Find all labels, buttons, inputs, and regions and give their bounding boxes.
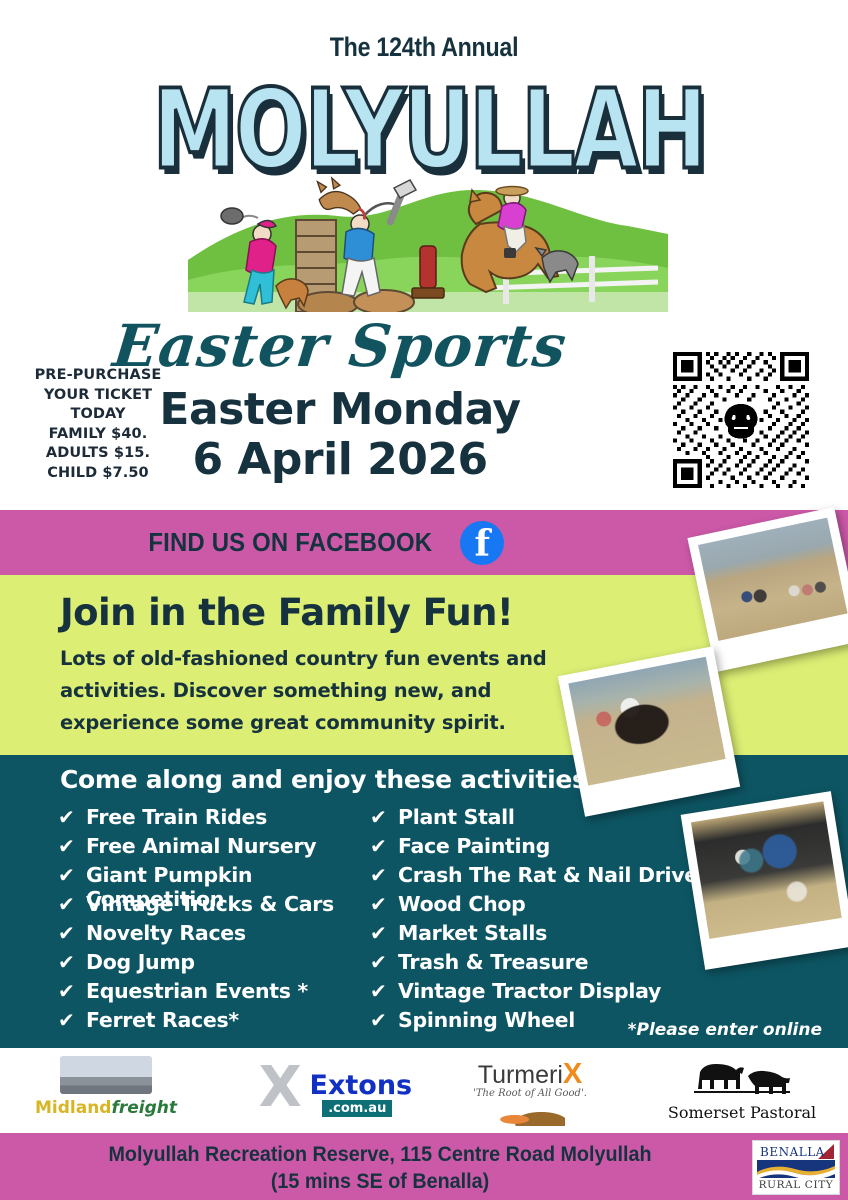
ticket-price-block: PRE-PURCHASE YOUR TICKET TODAY FAMILY $4… bbox=[12, 366, 184, 483]
sponsor-label: Midlandfreight bbox=[0, 1098, 212, 1118]
venue-address: Molyullah Recreation Reserve, 115 Centre… bbox=[23, 1141, 737, 1195]
activity-label: Market Stalls bbox=[398, 921, 547, 945]
sponsor-label: Extons bbox=[310, 1072, 413, 1099]
benalla-rural-city-logo: BENALLA RURAL CITY bbox=[752, 1140, 840, 1195]
activity-label: Equestrian Events * bbox=[86, 979, 308, 1003]
ticket-price-family: FAMILY $40. bbox=[12, 425, 184, 445]
activity-label: Free Animal Nursery bbox=[86, 834, 316, 858]
event-logo: MOLYULLAH bbox=[158, 66, 698, 316]
sponsor-turmerix: TurmeriX 'The Root of All Good'. bbox=[424, 1048, 636, 1133]
check-icon: ✔ bbox=[58, 981, 76, 1001]
family-fun-body: Lots of old-fashioned country fun events… bbox=[60, 643, 560, 739]
list-item: ✔Ferret Races* bbox=[58, 1008, 388, 1037]
activity-label: Trash & Treasure bbox=[398, 950, 588, 974]
check-icon: ✔ bbox=[370, 807, 388, 827]
activity-label: Free Train Rides bbox=[86, 805, 267, 829]
sponsor-label-text: Turmeri bbox=[478, 1061, 563, 1089]
list-item: ✔Free Train Rides bbox=[58, 805, 388, 834]
check-icon: ✔ bbox=[58, 1010, 76, 1030]
sponsor-tagline: 'The Root of All Good'. bbox=[424, 1088, 636, 1099]
sponsor-strip: Midlandfreight X Extons .com.au TurmeriX… bbox=[0, 1048, 848, 1133]
sponsor-extons: X Extons .com.au bbox=[212, 1048, 424, 1133]
activity-label: Wood Chop bbox=[398, 892, 526, 916]
hero-section: The 124th Annual bbox=[0, 0, 848, 510]
ticket-price-adults: ADULTS $15. bbox=[12, 444, 184, 464]
ticket-price-child: CHILD $7.50 bbox=[12, 464, 184, 484]
facebook-label: FIND US ON FACEBOOK bbox=[148, 527, 432, 558]
check-icon: ✔ bbox=[58, 836, 76, 856]
list-item: ✔Dog Jump bbox=[58, 950, 388, 979]
benalla-wave-icon bbox=[757, 1160, 835, 1178]
activity-label: Vintage Trucks & Cars bbox=[86, 892, 334, 916]
sponsor-label-bold: Midland bbox=[35, 1098, 111, 1118]
sponsor-somerset-pastoral: Somerset Pastoral bbox=[636, 1048, 848, 1133]
activity-label: Ferret Races* bbox=[86, 1008, 239, 1032]
activities-title: Come along and enjoy these activities: bbox=[60, 765, 596, 794]
check-icon: ✔ bbox=[58, 923, 76, 943]
family-fun-title: Join in the Family Fun! bbox=[60, 591, 513, 634]
sponsor-label: TurmeriX bbox=[424, 1058, 636, 1091]
venue-address-line1: Molyullah Recreation Reserve, 115 Centre… bbox=[23, 1141, 737, 1168]
list-item: ✔Equestrian Events * bbox=[58, 979, 388, 1008]
annual-label: The 124th Annual bbox=[59, 32, 788, 63]
list-item: ✔Crash The Rat & Nail Drive bbox=[370, 863, 700, 892]
sponsor-domain: .com.au bbox=[322, 1100, 392, 1117]
ticket-line-3: TODAY bbox=[12, 405, 184, 425]
activity-label: Crash The Rat & Nail Drive bbox=[398, 863, 698, 887]
venue-address-line2: (15 mins SE of Benalla) bbox=[23, 1168, 737, 1195]
check-icon: ✔ bbox=[370, 865, 388, 885]
activity-label: Face Painting bbox=[398, 834, 550, 858]
activity-label: Novelty Races bbox=[86, 921, 246, 945]
list-item: ✔Plant Stall bbox=[370, 805, 700, 834]
ticket-line-1: PRE-PURCHASE bbox=[12, 366, 184, 386]
activity-label: Plant Stall bbox=[398, 805, 515, 829]
photo-dog-jump bbox=[681, 791, 848, 970]
enter-online-note: *Please enter online bbox=[628, 1020, 822, 1040]
list-item: ✔Face Painting bbox=[370, 834, 700, 863]
benalla-logo-bottom: RURAL CITY bbox=[753, 1179, 839, 1191]
check-icon: ✔ bbox=[58, 807, 76, 827]
activity-label: Vintage Tractor Display bbox=[398, 979, 661, 1003]
check-icon: ✔ bbox=[370, 923, 388, 943]
benalla-logo-top: BENALLA bbox=[757, 1145, 835, 1159]
sponsor-label: Somerset Pastoral bbox=[636, 1103, 848, 1122]
list-item: ✔Novelty Races bbox=[58, 921, 388, 950]
list-item: ✔Trash & Treasure bbox=[370, 950, 700, 979]
activities-column-right: ✔Plant Stall ✔Face Painting ✔Crash The R… bbox=[370, 805, 700, 1037]
check-icon: ✔ bbox=[370, 981, 388, 1001]
truck-icon bbox=[60, 1056, 152, 1094]
lion-icon bbox=[725, 404, 758, 439]
list-item: ✔Free Animal Nursery bbox=[58, 834, 388, 863]
facebook-icon[interactable] bbox=[460, 521, 504, 565]
sponsor-label-mark: X bbox=[563, 1058, 582, 1090]
activities-column-left: ✔Free Train Rides ✔Free Animal Nursery ✔… bbox=[58, 805, 388, 1037]
ticket-line-2: YOUR TICKET bbox=[12, 386, 184, 406]
sponsor-midland-freight: Midlandfreight bbox=[0, 1048, 212, 1133]
photo-equestrian bbox=[558, 646, 740, 817]
event-name: MOLYULLAH bbox=[153, 66, 704, 194]
photo-image bbox=[698, 518, 847, 641]
activity-label: Dog Jump bbox=[86, 950, 195, 974]
qr-code[interactable] bbox=[673, 352, 809, 488]
poster: The 124th Annual bbox=[0, 0, 848, 1200]
sponsor-label-italic: freight bbox=[111, 1098, 177, 1118]
check-icon: ✔ bbox=[58, 952, 76, 972]
footer-address-band: Molyullah Recreation Reserve, 115 Centre… bbox=[0, 1133, 848, 1200]
list-item: ✔Wood Chop bbox=[370, 892, 700, 921]
list-item: ✔Vintage Tractor Display bbox=[370, 979, 700, 1008]
check-icon: ✔ bbox=[370, 1010, 388, 1030]
check-icon: ✔ bbox=[370, 894, 388, 914]
turmeric-icon bbox=[495, 1104, 565, 1126]
check-icon: ✔ bbox=[370, 952, 388, 972]
check-icon: ✔ bbox=[58, 894, 76, 914]
photo-image bbox=[568, 657, 725, 786]
x-mark-icon: X bbox=[259, 1060, 302, 1116]
list-item: ✔Market Stalls bbox=[370, 921, 700, 950]
list-item: ✔Giant Pumpkin Competition bbox=[58, 863, 388, 892]
photo-image bbox=[691, 801, 842, 939]
facebook-cta[interactable]: FIND US ON FACEBOOK bbox=[0, 510, 640, 575]
check-icon: ✔ bbox=[58, 865, 76, 885]
activity-label: Spinning Wheel bbox=[398, 1008, 575, 1032]
check-icon: ✔ bbox=[370, 836, 388, 856]
cattle-icon bbox=[690, 1058, 794, 1100]
